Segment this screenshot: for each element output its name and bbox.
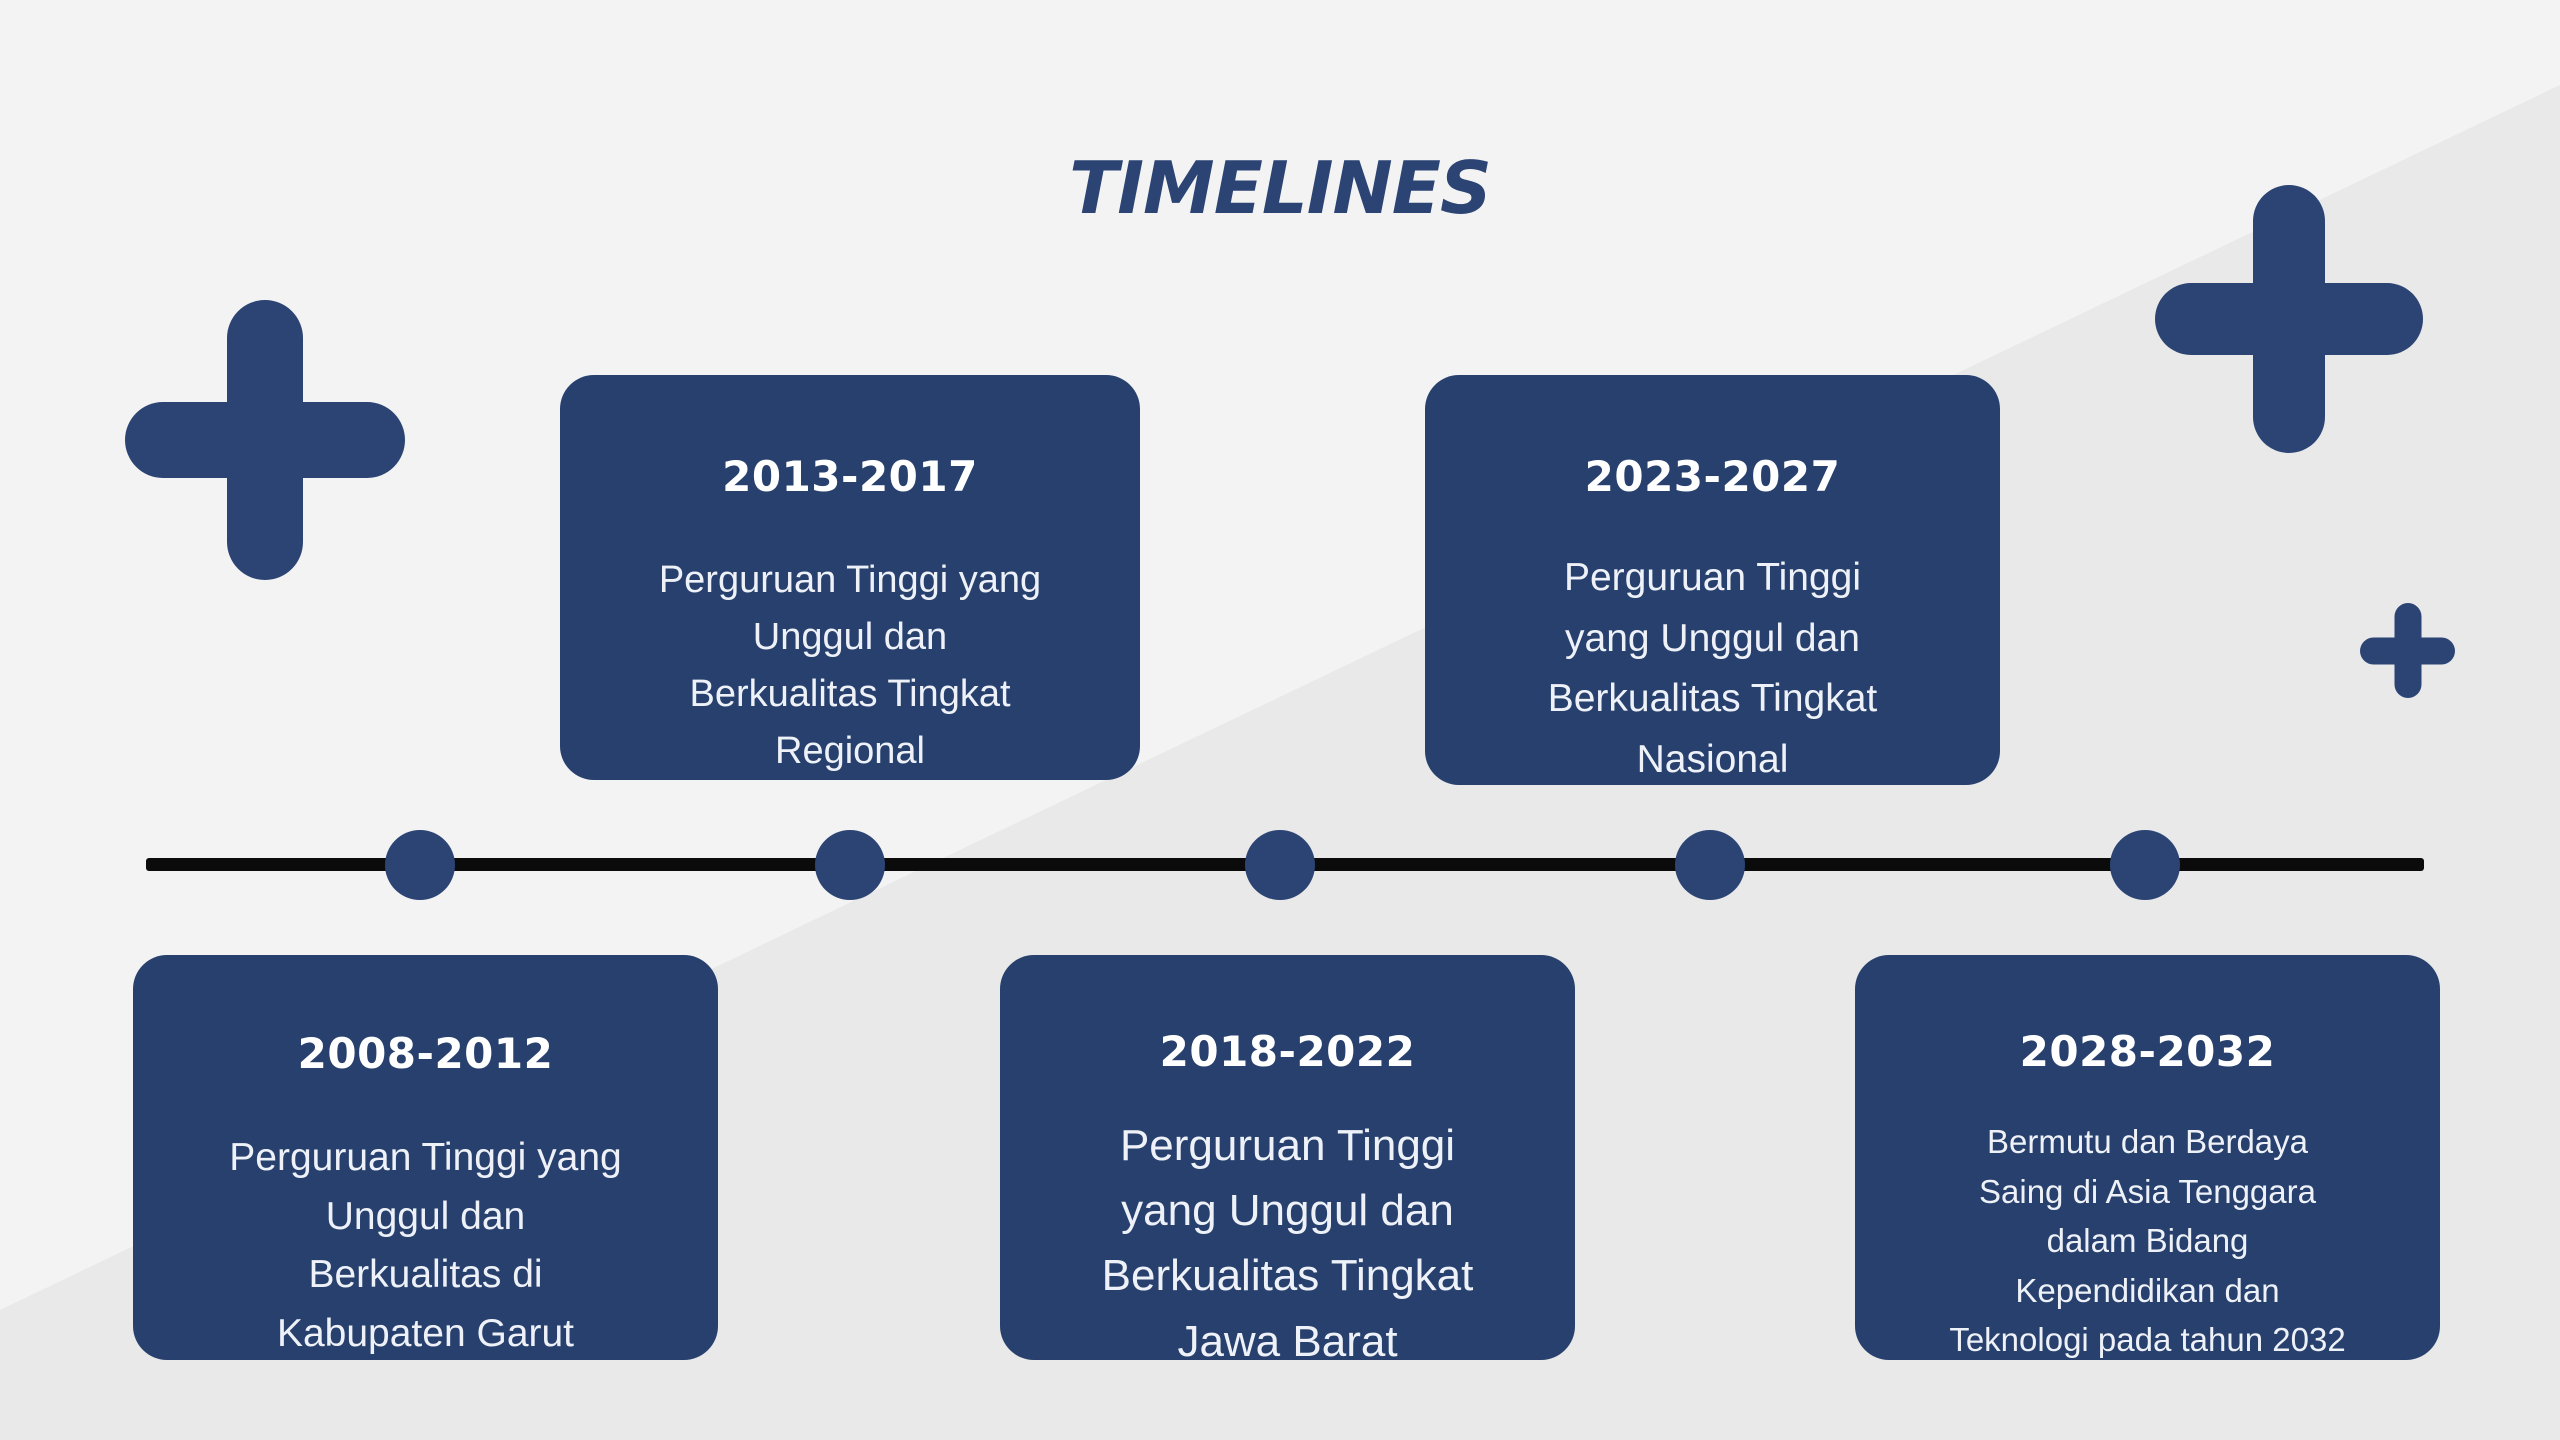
timeline-card-year: 2028-2032 [2020, 1029, 2276, 1075]
timeline-infographic: TIMELINES 2013-2017 Perguruan Tinggi yan… [0, 0, 2560, 1440]
plus-icon-vertical-bar [227, 300, 303, 580]
timeline-dot-5[interactable] [2110, 830, 2180, 900]
timeline-card-2008-2012[interactable]: 2008-2012 Perguruan Tinggi yang Unggul d… [133, 955, 718, 1360]
timeline-card-year: 2008-2012 [298, 1031, 554, 1077]
timeline-card-2018-2022[interactable]: 2018-2022 Perguruan Tinggi yang Unggul d… [1000, 955, 1575, 1360]
plus-icon [125, 300, 405, 580]
plus-icon [2360, 603, 2455, 698]
plus-icon-vertical-bar [2394, 603, 2421, 698]
timeline-card-body: Bermutu dan Berdaya Saing di Asia Tengga… [1949, 1117, 2345, 1365]
timeline-card-body: Perguruan Tinggi yang Unggul dan Berkual… [659, 552, 1041, 780]
timeline-card-body: Perguruan Tinggi yang Unggul dan Berkual… [1102, 1113, 1474, 1373]
timeline-dot-3[interactable] [1245, 830, 1315, 900]
timeline-card-2023-2027[interactable]: 2023-2027 Perguruan Tinggi yang Unggul d… [1425, 375, 2000, 785]
plus-icon-vertical-bar [2253, 185, 2325, 453]
timeline-card-body: Perguruan Tinggi yang Unggul dan Berkual… [1548, 548, 1878, 790]
timeline-card-year: 2018-2022 [1160, 1029, 1416, 1075]
timeline-card-2028-2032[interactable]: 2028-2032 Bermutu dan Berdaya Saing di A… [1855, 955, 2440, 1360]
timeline-dot-1[interactable] [385, 830, 455, 900]
timeline-dot-4[interactable] [1675, 830, 1745, 900]
timeline-card-year: 2023-2027 [1585, 454, 1841, 500]
timeline-card-year: 2013-2017 [722, 454, 978, 500]
plus-icon [2155, 185, 2423, 453]
timeline-dot-2[interactable] [815, 830, 885, 900]
timeline-card-2013-2017[interactable]: 2013-2017 Perguruan Tinggi yang Unggul d… [560, 375, 1140, 780]
timeline-card-body: Perguruan Tinggi yang Unggul dan Berkual… [229, 1129, 621, 1363]
